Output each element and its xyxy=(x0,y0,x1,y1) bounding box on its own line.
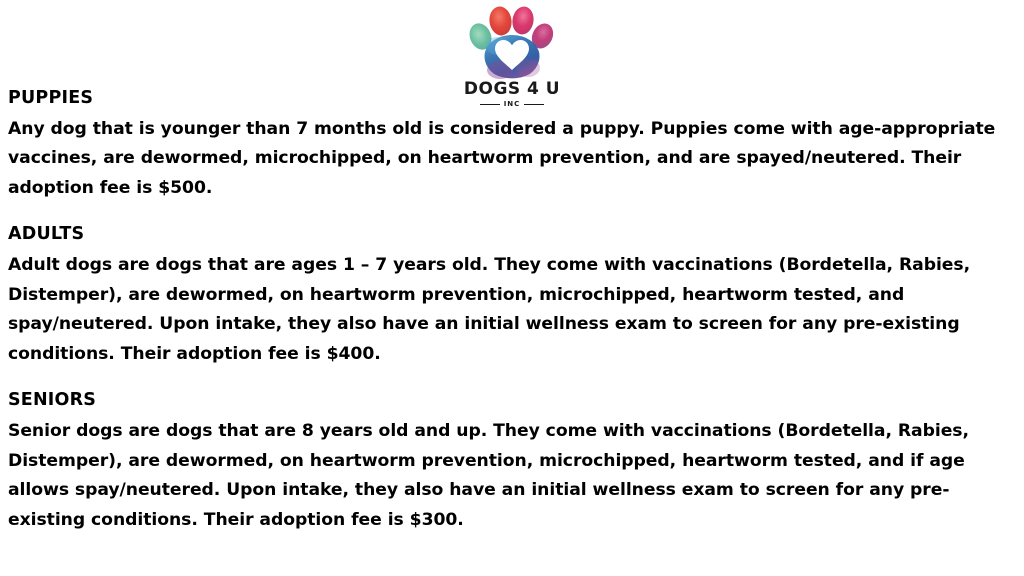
section-body-adults: Adult dogs are dogs that are ages 1 – 7 … xyxy=(8,251,1020,369)
paw-print-with-heart-icon xyxy=(466,4,558,82)
section-puppies: PUPPIES Any dog that is younger than 7 m… xyxy=(8,88,1020,203)
section-body-puppies: Any dog that is younger than 7 months ol… xyxy=(8,115,1020,204)
section-body-seniors: Senior dogs are dogs that are 8 years ol… xyxy=(8,417,1020,535)
section-heading-adults: ADULTS xyxy=(8,224,1020,246)
section-adults: ADULTS Adult dogs are dogs that are ages… xyxy=(8,224,1020,369)
adoption-fee-content: PUPPIES Any dog that is younger than 7 m… xyxy=(8,88,1020,535)
section-heading-seniors: SENIORS xyxy=(8,390,1020,412)
document-page: DOGS 4 U INC PUPPIES Any dog that is you… xyxy=(0,0,1024,576)
section-heading-puppies: PUPPIES xyxy=(8,88,1020,110)
section-seniors: SENIORS Senior dogs are dogs that are 8 … xyxy=(8,390,1020,535)
